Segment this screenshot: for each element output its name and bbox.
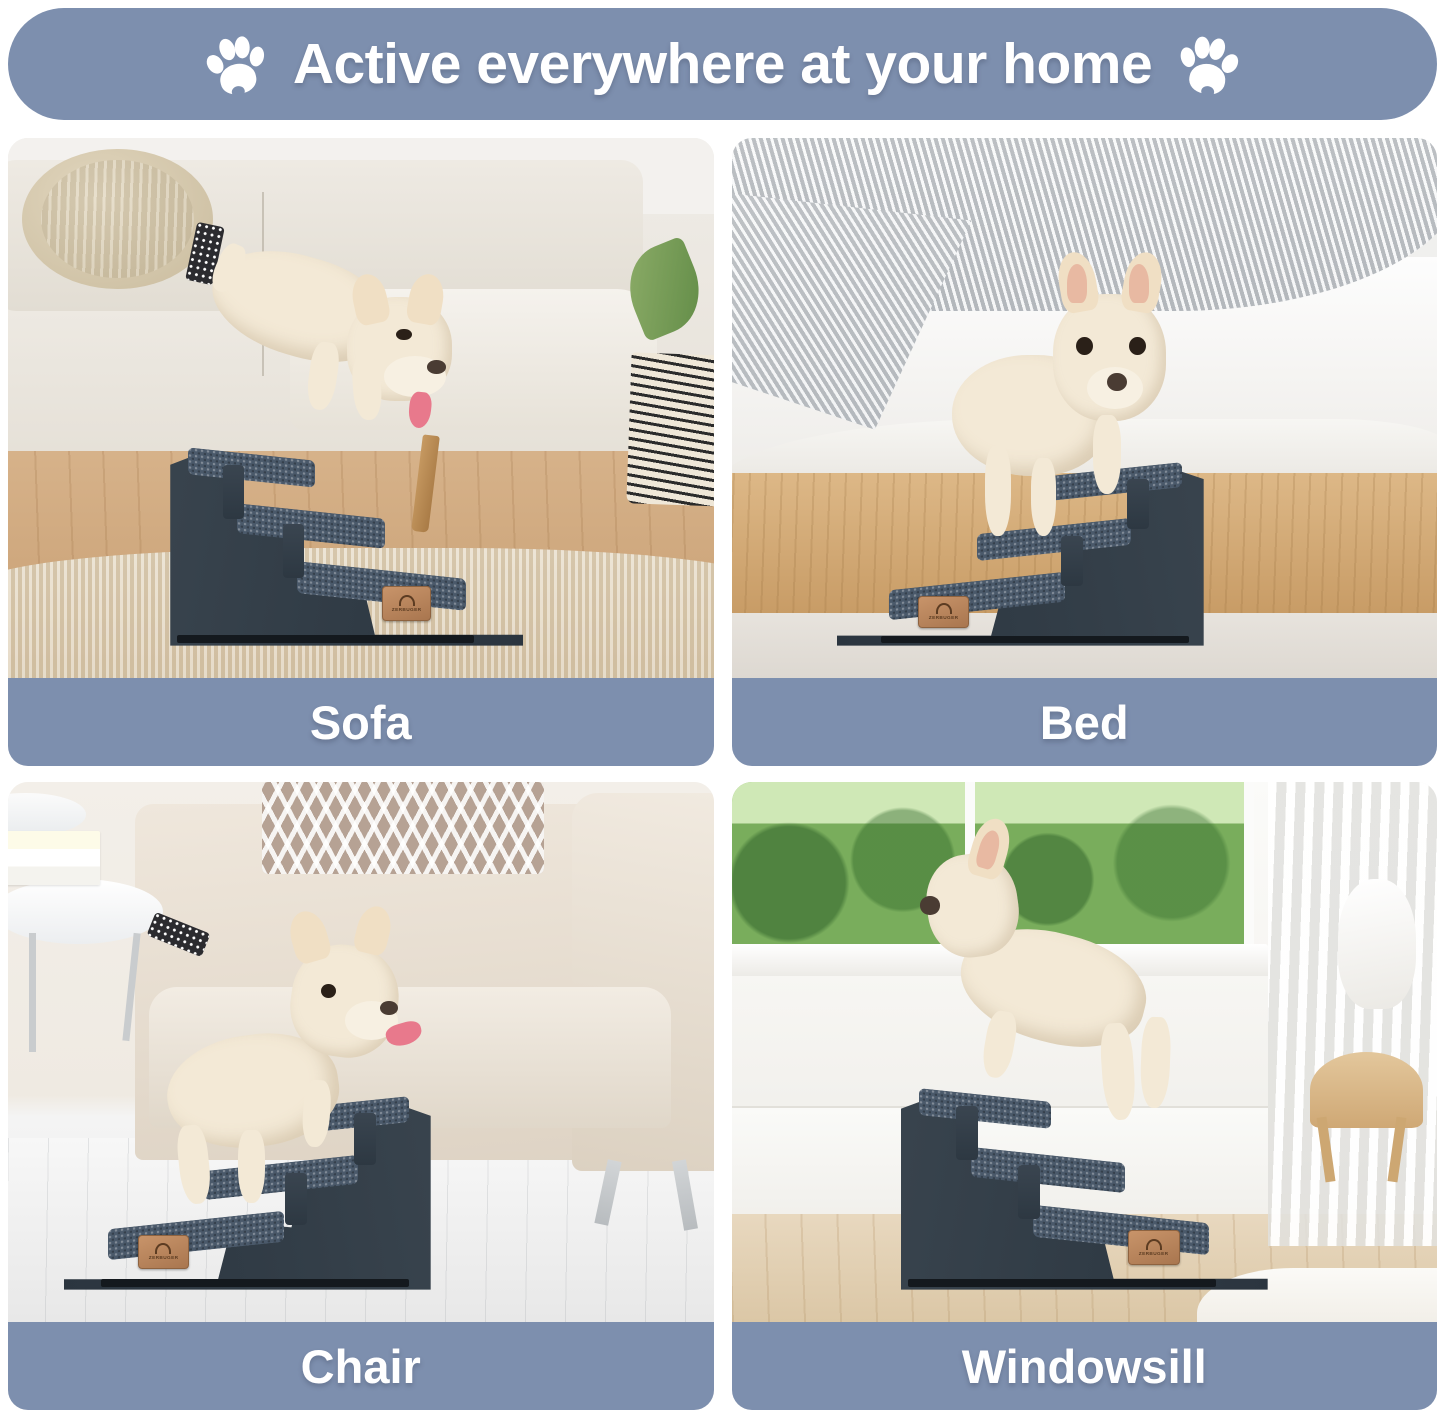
caption-sofa: Sofa bbox=[8, 678, 714, 766]
round-pillow bbox=[22, 149, 212, 289]
brand-logo-icon bbox=[936, 603, 952, 614]
brand-tag-text: ZERBUGER bbox=[1139, 1251, 1169, 1257]
caption-windowsill: Windowsill bbox=[732, 1322, 1438, 1410]
caption-label: Sofa bbox=[310, 695, 412, 750]
dog-eye-right bbox=[1129, 337, 1146, 355]
dog-nose bbox=[1107, 373, 1127, 391]
dog-eye bbox=[396, 329, 412, 340]
photo-sofa: ZERBUGER bbox=[8, 138, 714, 678]
stacked-books bbox=[8, 831, 100, 885]
brand-tag: ZERBUGER bbox=[918, 596, 969, 628]
brand-tag-text: ZERBUGER bbox=[392, 607, 422, 613]
dog-leg-front bbox=[301, 1079, 332, 1148]
caption-bed: Bed bbox=[732, 678, 1438, 766]
header-banner: Active everywhere at your home bbox=[8, 8, 1437, 120]
panel-bed: ZERBUGER bbox=[732, 138, 1438, 766]
dog-eye-left bbox=[1076, 337, 1093, 355]
photo-chair: ZERBUGER bbox=[8, 782, 714, 1322]
photo-windowsill: ZERBUGER bbox=[732, 782, 1438, 1322]
dog-leg-rear bbox=[1099, 1022, 1138, 1121]
brand-logo-icon bbox=[399, 595, 415, 606]
stairs-base bbox=[908, 1279, 1216, 1287]
dog-leg-rear bbox=[985, 446, 1010, 537]
brand-tag-text: ZERBUGER bbox=[929, 615, 959, 621]
stairs-riser-lower bbox=[283, 524, 304, 578]
caption-chair: Chair bbox=[8, 1322, 714, 1410]
brand-logo-icon bbox=[1146, 1239, 1162, 1250]
dog-nose bbox=[380, 1001, 398, 1015]
dog-leg-front bbox=[1093, 415, 1121, 494]
panel-grid: ZERBUGER bbox=[8, 138, 1437, 1410]
brand-tag: ZERBUGER bbox=[1128, 1230, 1179, 1265]
wooden-stool bbox=[1310, 1052, 1423, 1128]
panel-windowsill: ZERBUGER Windowsill bbox=[732, 782, 1438, 1410]
dog-leg-front bbox=[980, 1009, 1020, 1080]
brand-tag-text: ZERBUGER bbox=[149, 1255, 179, 1261]
dog-eye bbox=[321, 984, 336, 998]
paw-print-icon bbox=[1173, 28, 1245, 100]
dog-windowsill bbox=[901, 836, 1226, 1138]
dog-nose bbox=[427, 360, 446, 374]
stairs-riser-upper bbox=[223, 465, 244, 519]
lamp bbox=[1338, 879, 1416, 1009]
dog-bed bbox=[929, 246, 1211, 548]
dog-leg-rear-2 bbox=[1139, 1017, 1171, 1109]
stairs-base bbox=[881, 636, 1189, 643]
paw-print-icon bbox=[199, 27, 273, 101]
dog-leg-rear-2 bbox=[1031, 458, 1056, 537]
brand-logo-icon bbox=[155, 1243, 171, 1254]
brand-tag: ZERBUGER bbox=[138, 1235, 189, 1269]
stairs-base bbox=[177, 635, 473, 643]
caption-label: Chair bbox=[301, 1339, 421, 1394]
table-leg bbox=[29, 933, 36, 1052]
product-infographic: Active everywhere at your home bbox=[0, 0, 1445, 1418]
dog-nose bbox=[920, 896, 939, 914]
dog-chair bbox=[149, 922, 445, 1203]
caption-label: Bed bbox=[1040, 695, 1129, 750]
photo-bed: ZERBUGER bbox=[732, 138, 1438, 678]
panel-sofa: ZERBUGER bbox=[8, 138, 714, 766]
dog-tongue bbox=[407, 391, 432, 429]
woven-basket bbox=[626, 352, 713, 507]
sheer-curtain bbox=[1268, 782, 1437, 1246]
panel-chair: ZERBUGER bbox=[8, 782, 714, 1410]
geometric-pillow bbox=[262, 782, 544, 874]
page-title: Active everywhere at your home bbox=[293, 31, 1152, 97]
dog-sofa bbox=[191, 224, 501, 451]
dog-ear-inner-left bbox=[1067, 264, 1087, 303]
dog-ear-inner-right bbox=[1129, 264, 1149, 303]
dog-leg-rear-2 bbox=[238, 1130, 265, 1203]
stairs-riser-lower bbox=[1018, 1165, 1040, 1219]
brand-tag: ZERBUGER bbox=[382, 586, 431, 621]
caption-label: Windowsill bbox=[962, 1339, 1207, 1394]
stairs-base bbox=[101, 1279, 409, 1287]
